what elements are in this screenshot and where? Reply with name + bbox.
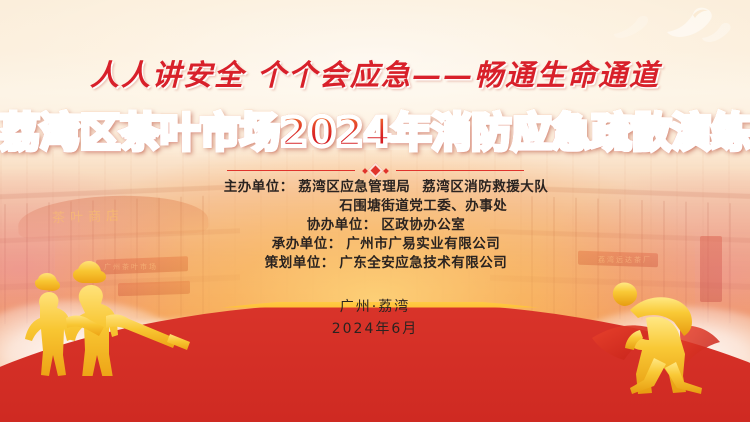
organizer-colon: ： <box>363 216 382 235</box>
event-location: 广州·荔湾 <box>0 296 750 318</box>
organizer-colon: ： <box>321 254 340 273</box>
divider-ornament <box>363 165 388 176</box>
organizer-row: 主办单位 ： 荔湾区应急管理局荔湾区消防救援大队 <box>202 178 549 197</box>
divider-line-left <box>227 170 355 171</box>
organizer-value: 荔湾区应急管理局荔湾区消防救援大队 <box>298 178 548 197</box>
organizer-colon: ： <box>328 235 347 254</box>
organizer-row: 承办单位 ： 广州市广易实业有限公司 <box>250 235 501 254</box>
diamond-dot-icon <box>383 168 389 174</box>
main-title: 荔湾区茶叶市场2024年消防应急疏散演练 <box>0 100 750 158</box>
organizer-value-part1: 荔湾区应急管理局 <box>298 179 410 195</box>
organizer-row: 策划单位 ： 广东全安应急技术有限公司 <box>243 254 508 273</box>
organizer-row: 主办单位 ： 石围塘街道党工委、办事处 <box>243 197 508 216</box>
organizer-label: 策划单位 <box>243 254 321 273</box>
organizer-value: 石围塘街道党工委、办事处 <box>339 197 507 216</box>
event-date: 2024年6月 <box>0 318 750 340</box>
divider-line-right <box>396 170 524 171</box>
organizer-value: 广东全安应急技术有限公司 <box>339 254 507 273</box>
ornament-divider <box>0 165 750 176</box>
event-place-date: 广州·荔湾 2024年6月 <box>0 296 750 340</box>
organizer-label: 协办单位 <box>285 216 363 235</box>
poster-canvas: 茶叶商店 广州茶叶市场 荔湾远达茶厂 <box>0 0 750 422</box>
organizer-label: 主办单位 <box>202 178 280 197</box>
slogan-calligraphy: 人人讲安全 个个会应急——畅通生命通道 <box>0 52 750 94</box>
organizer-colon: ： <box>280 178 299 197</box>
organizer-value-part2: 荔湾区消防救援大队 <box>422 179 548 195</box>
diamond-icon <box>367 163 383 179</box>
organizer-label: 承办单位 <box>250 235 328 254</box>
diamond-dot-icon <box>362 168 368 174</box>
organizer-list: 主办单位 ： 荔湾区应急管理局荔湾区消防救援大队 主办单位 ： 石围塘街道党工委… <box>0 178 750 273</box>
organizer-value: 区政协办公室 <box>381 216 465 235</box>
poster-content: 人人讲安全 个个会应急——畅通生命通道 荔湾区茶叶市场2024年消防应急疏散演练… <box>0 0 750 422</box>
organizer-value: 广州市广易实业有限公司 <box>346 235 500 254</box>
organizer-row: 协办单位 ： 区政协办公室 <box>285 216 466 235</box>
